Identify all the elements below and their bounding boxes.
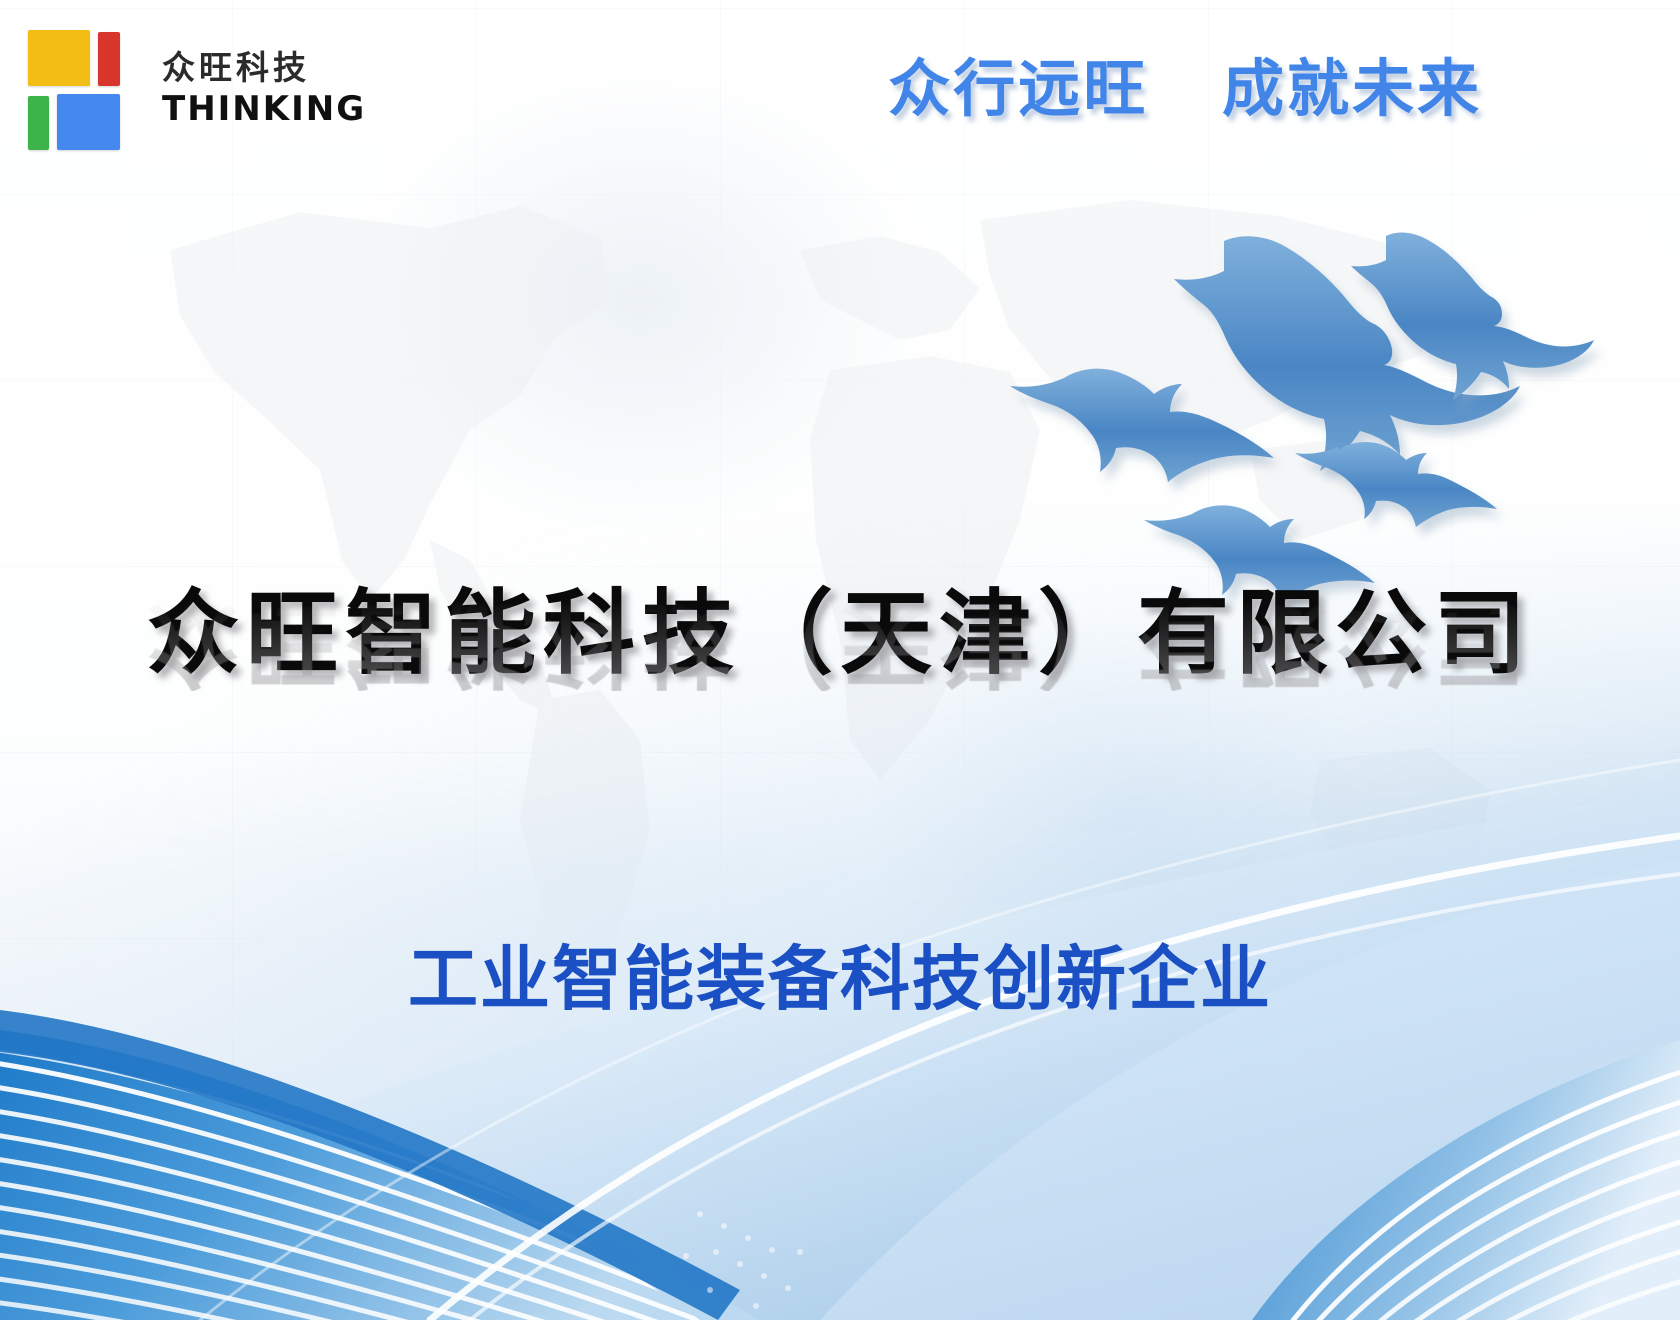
logo-name-cn: 众旺科技	[162, 51, 366, 84]
company-logo: 众旺科技 THINKING	[28, 30, 366, 150]
slogan-text: 众行远旺 成就未来	[888, 58, 1482, 120]
tagline-text: 工业智能装备科技创新企业	[0, 944, 1680, 1014]
title-block: 众旺智能科技（天津）有限公司 众旺智能科技（天津）有限公司	[0, 586, 1680, 787]
seagull-icon	[1295, 442, 1497, 527]
presentation-slide: 众旺科技 THINKING 众行远旺 成就未来 众旺智能科技（天津）有限公司 众…	[0, 0, 1680, 1320]
logo-blue-block-icon	[57, 94, 120, 150]
logo-yellow-block-icon	[28, 30, 90, 86]
seagull-icon	[1010, 369, 1274, 482]
company-name-reflection: 众旺智能科技（天津）有限公司	[0, 594, 1680, 691]
logo-green-block-icon	[28, 96, 49, 150]
seagull-icon	[1174, 236, 1520, 471]
logo-mark-icon	[28, 30, 136, 150]
logo-wordmark: 众旺科技 THINKING	[162, 51, 366, 130]
seagull-icon	[1351, 233, 1594, 400]
logo-name-en: THINKING	[162, 92, 366, 126]
logo-red-block-icon	[98, 32, 120, 86]
